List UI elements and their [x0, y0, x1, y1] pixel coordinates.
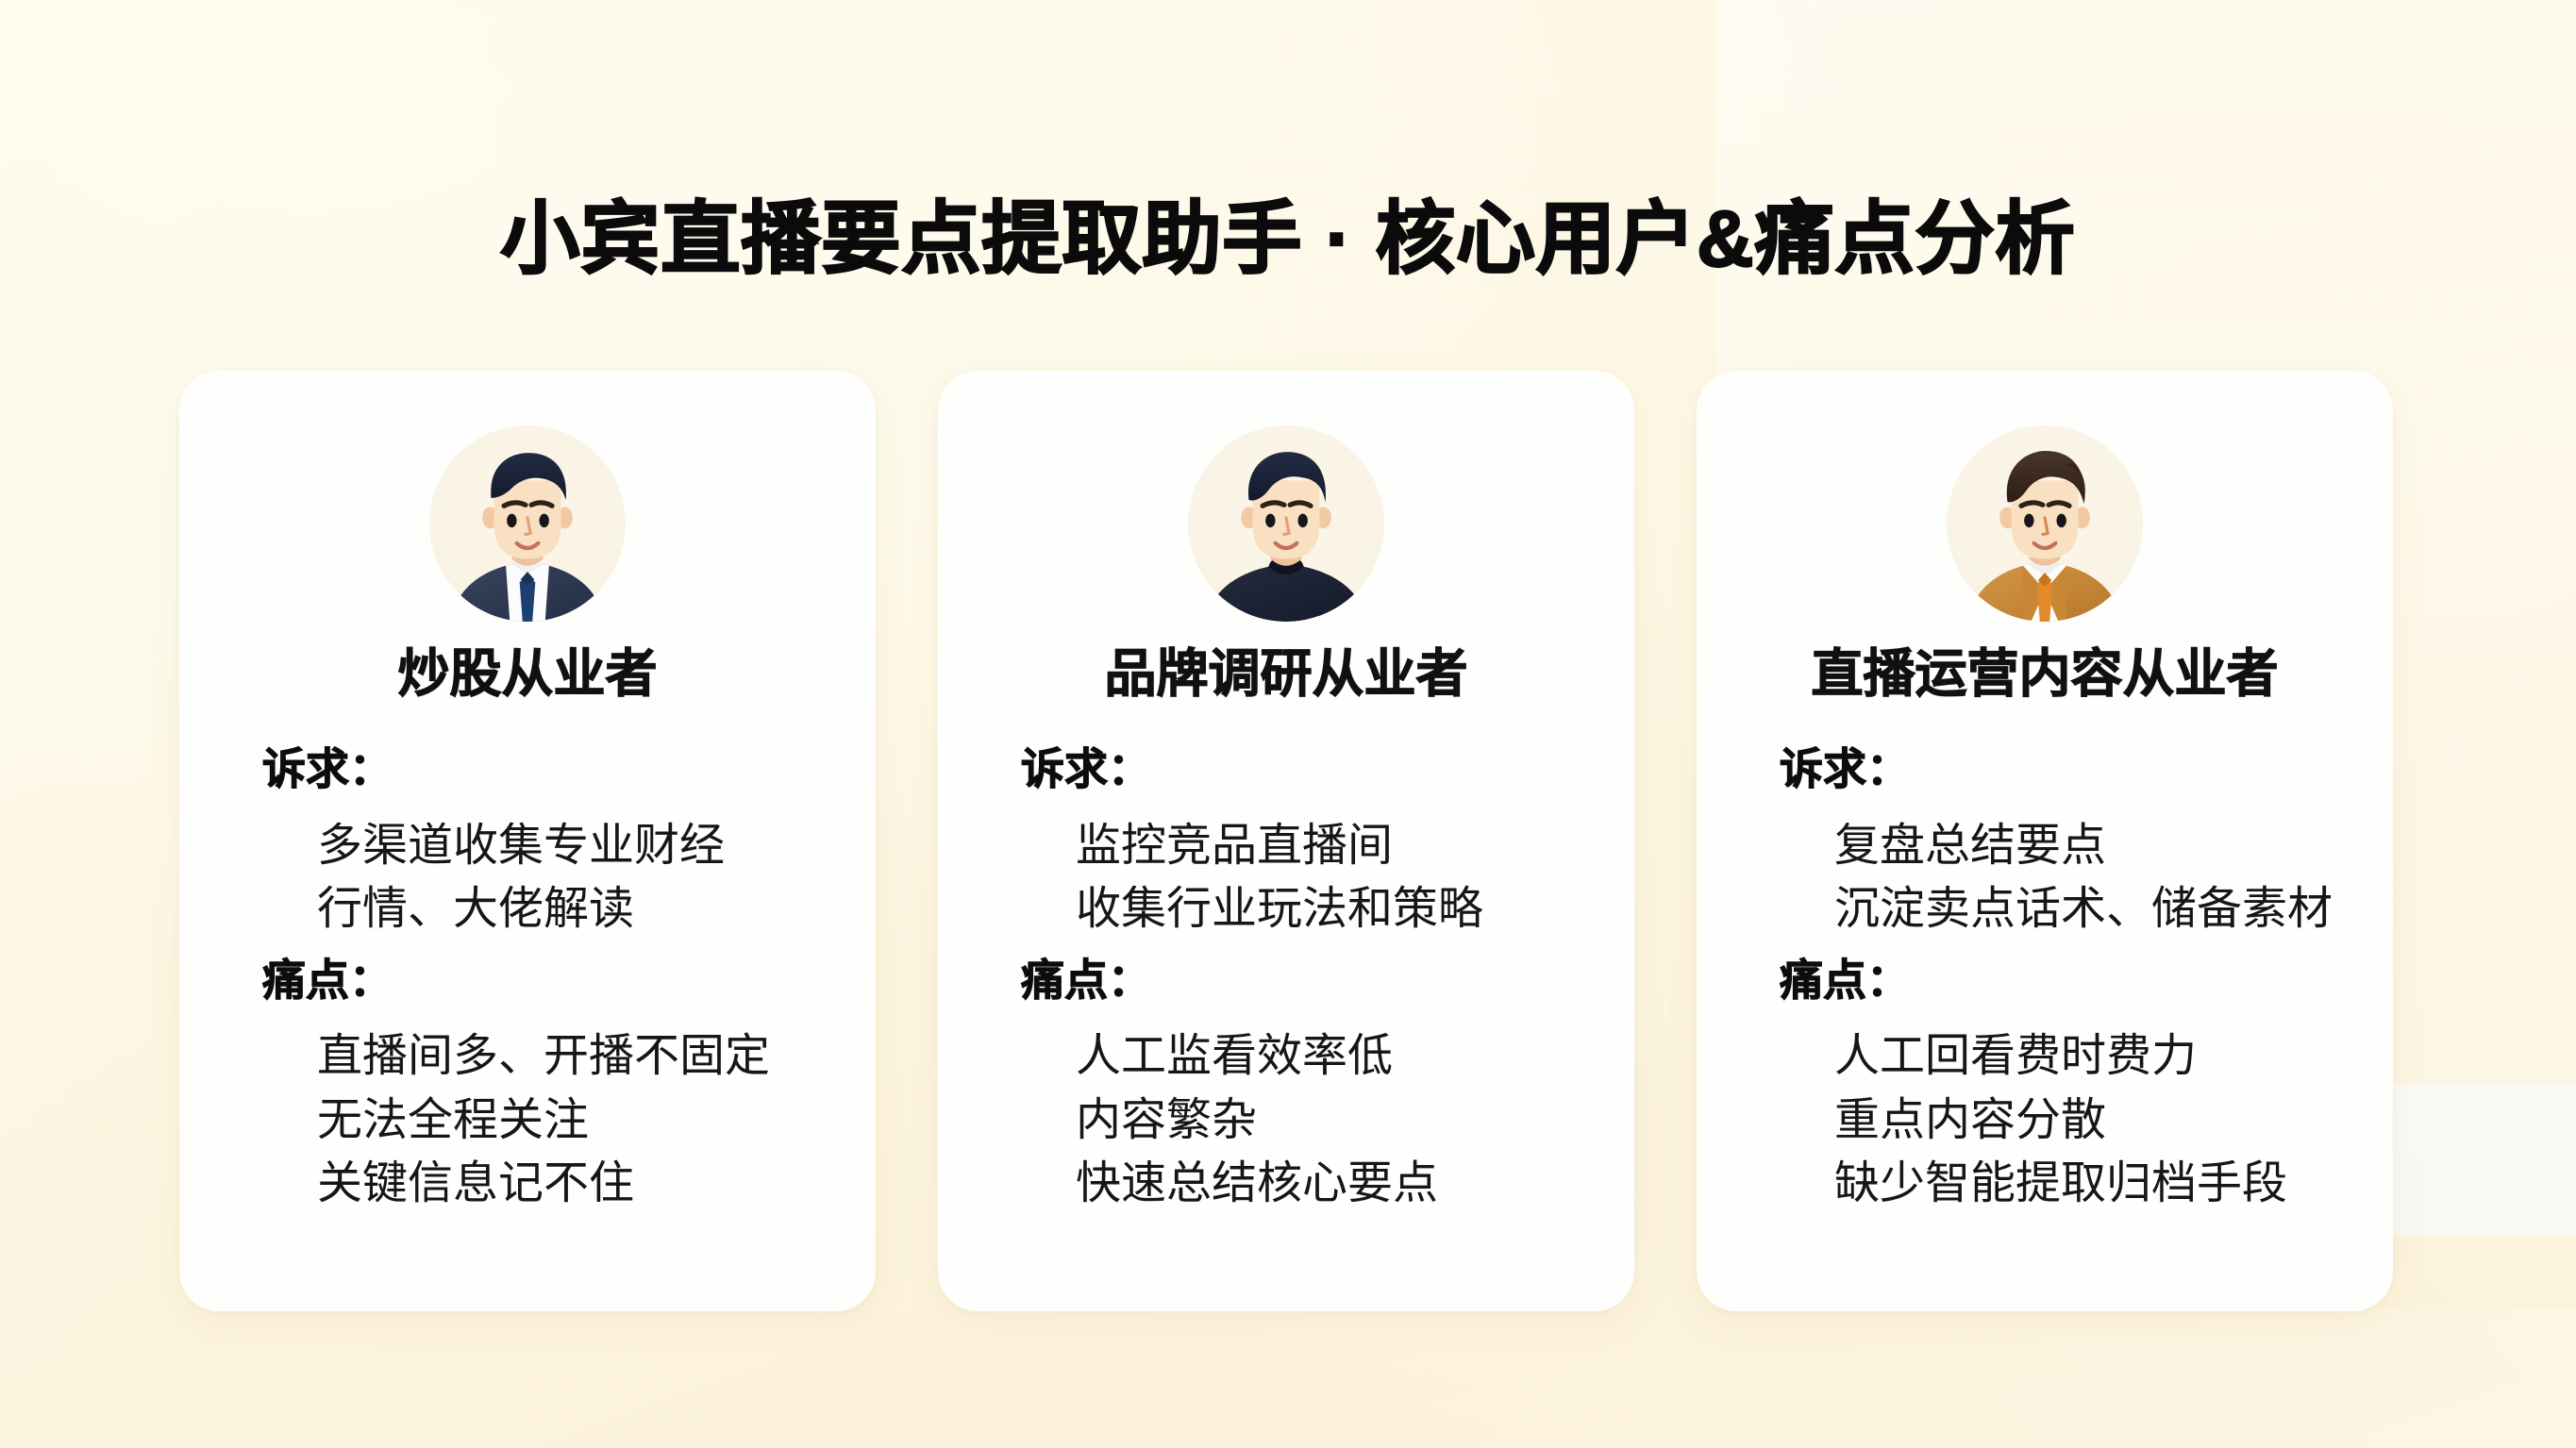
list-item: 无法全程关注 — [317, 1089, 836, 1152]
avatar-man-tan-suit-icon — [1947, 425, 2143, 622]
persona-name: 炒股从业者 — [219, 642, 836, 705]
avatar-businessman-navy-suit-icon — [429, 425, 626, 622]
list-item: 多渠道收集专业财经 — [317, 814, 836, 877]
avatar-wrap — [978, 425, 1595, 622]
list-item: 人工回看费时费力 — [1834, 1024, 2353, 1088]
pains-label: 痛点： — [978, 954, 1595, 1008]
needs-label: 诉求： — [978, 742, 1595, 797]
list-item: 收集行业玩法和策略 — [1076, 877, 1595, 940]
list-item: 缺少智能提取归档手段 — [1834, 1152, 2353, 1215]
pains-list: 直播间多、开播不固定 无法全程关注 关键信息记不住 — [219, 1024, 836, 1215]
list-item: 行情、大佬解读 — [317, 877, 836, 940]
needs-list: 多渠道收集专业财经 行情、大佬解读 — [219, 814, 836, 940]
page-title: 小宾直播要点提取助手 · 核心用户&痛点分析 — [0, 194, 2576, 283]
list-item: 人工监看效率低 — [1076, 1024, 1595, 1088]
avatar-wrap — [1736, 425, 2353, 622]
needs-block: 诉求： 监控竞品直播间 收集行业玩法和策略 — [978, 742, 1595, 954]
pains-label: 痛点： — [1736, 954, 2353, 1008]
persona-card[interactable]: 品牌调研从业者 诉求： 监控竞品直播间 收集行业玩法和策略 痛点： 人工监看效率… — [938, 371, 1634, 1311]
pains-list: 人工监看效率低 内容繁杂 快速总结核心要点 — [978, 1024, 1595, 1215]
list-item: 关键信息记不住 — [317, 1152, 836, 1215]
pains-block: 痛点： 人工回看费时费力 重点内容分散 缺少智能提取归档手段 — [1736, 954, 2353, 1228]
list-item: 沉淀卖点话术、储备素材 — [1834, 877, 2353, 940]
list-item: 监控竞品直播间 — [1076, 814, 1595, 877]
needs-block: 诉求： 复盘总结要点 沉淀卖点话术、储备素材 — [1736, 742, 2353, 954]
persona-name: 品牌调研从业者 — [978, 642, 1595, 705]
avatar-wrap — [219, 425, 836, 622]
list-item: 内容繁杂 — [1076, 1089, 1595, 1152]
persona-card[interactable]: 炒股从业者 诉求： 多渠道收集专业财经 行情、大佬解读 痛点： 直播间多、开播不… — [179, 371, 876, 1311]
needs-label: 诉求： — [1736, 742, 2353, 797]
list-item: 重点内容分散 — [1834, 1089, 2353, 1152]
persona-card[interactable]: 直播运营内容从业者 诉求： 复盘总结要点 沉淀卖点话术、储备素材 痛点： 人工回… — [1697, 371, 2393, 1311]
pains-label: 痛点： — [219, 954, 836, 1008]
persona-card-row: 炒股从业者 诉求： 多渠道收集专业财经 行情、大佬解读 痛点： 直播间多、开播不… — [179, 371, 2395, 1311]
needs-list: 复盘总结要点 沉淀卖点话术、储备素材 — [1736, 814, 2353, 940]
pains-list: 人工回看费时费力 重点内容分散 缺少智能提取归档手段 — [1736, 1024, 2353, 1215]
pains-block: 痛点： 人工监看效率低 内容繁杂 快速总结核心要点 — [978, 954, 1595, 1228]
needs-label: 诉求： — [219, 742, 836, 797]
avatar-man-navy-sweater-icon — [1188, 425, 1384, 622]
persona-name: 直播运营内容从业者 — [1736, 642, 2353, 705]
pains-block: 痛点： 直播间多、开播不固定 无法全程关注 关键信息记不住 — [219, 954, 836, 1228]
needs-list: 监控竞品直播间 收集行业玩法和策略 — [978, 814, 1595, 940]
list-item: 直播间多、开播不固定 — [317, 1024, 836, 1088]
list-item: 快速总结核心要点 — [1076, 1152, 1595, 1215]
needs-block: 诉求： 多渠道收集专业财经 行情、大佬解读 — [219, 742, 836, 954]
list-item: 复盘总结要点 — [1834, 814, 2353, 877]
